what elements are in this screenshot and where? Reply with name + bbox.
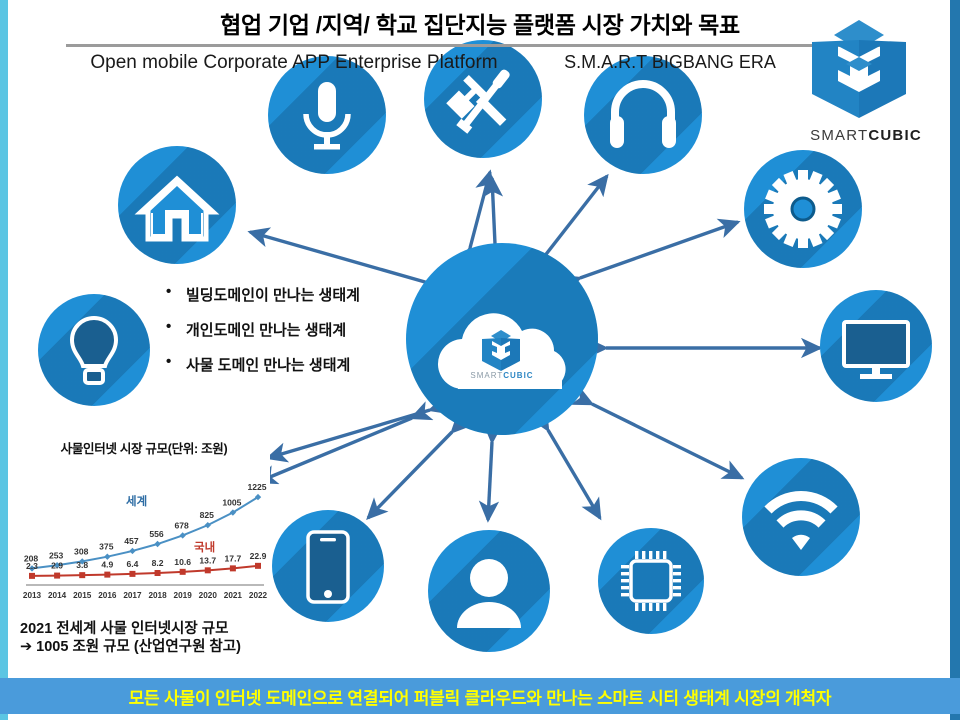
arrow-hub-tools [492, 178, 495, 244]
chart-note-line2: ➔ 1005 조원 규모 (산업연구원 참고) [20, 638, 300, 656]
chart-note: 2021 전세계 사물 인터넷시장 규모 ➔ 1005 조원 규모 (산업연구원… [20, 620, 300, 656]
arrow-hub-chip [548, 430, 600, 518]
right-edge-strip [950, 0, 960, 720]
headphones-icon [584, 56, 702, 174]
svg-text:2021: 2021 [224, 591, 243, 600]
smartphone-icon [272, 510, 384, 622]
arrow-hub-chart [258, 418, 412, 482]
svg-text:556: 556 [149, 529, 164, 539]
node-chip[interactable] [598, 528, 704, 634]
node-gear[interactable] [744, 150, 862, 268]
home-icon [118, 146, 236, 264]
svg-text:2014: 2014 [48, 591, 67, 600]
bottom-banner: 모든 사물이 인터넷 도메인으로 연결되어 퍼블릭 클라우드와 만나는 스마트 … [0, 678, 960, 714]
chart-annotation-world: 세계 [126, 494, 147, 508]
arrow-hub-gear [580, 222, 738, 278]
hub-label-bold: CUBIC [503, 371, 533, 380]
hub-label-light: SMART [470, 371, 503, 380]
list-item: 사물 도메인 만나는 생태계 [152, 354, 404, 375]
svg-text:3.8: 3.8 [76, 560, 88, 570]
subtitle-right: S.M.A.R.T BIGBANG ERA [520, 52, 820, 73]
svg-text:2.3: 2.3 [26, 561, 38, 571]
ecosystem-bullet-panel: 빌딩도메인이 만나는 생태계 개인도메인 만나는 생태계 사물 도메인 만나는 … [152, 278, 404, 406]
slide-canvas: 협업 기업 /지역/ 학교 집단지능 플랫폼 시장 가치와 목표 Open mo… [0, 0, 960, 720]
arrow-hub-home [250, 232, 432, 284]
arrow-hub-smartphone [368, 432, 452, 518]
svg-text:457: 457 [124, 536, 139, 546]
node-home[interactable] [118, 146, 236, 264]
bullet-list: 빌딩도메인이 만나는 생태계 개인도메인 만나는 생태계 사물 도메인 만나는 … [152, 284, 404, 375]
svg-text:1225: 1225 [247, 482, 266, 492]
hub-cloud-node[interactable]: SMARTCUBIC [406, 243, 598, 435]
svg-text:2022: 2022 [249, 591, 268, 600]
monitor-icon [820, 290, 932, 402]
brand-logo: SMARTCUBIC [800, 18, 932, 148]
svg-text:4.9: 4.9 [101, 560, 113, 570]
user-icon [428, 530, 550, 652]
arrow-hub-microphone [470, 172, 490, 248]
chart-title: 사물인터넷 시장 규모(단위: 조원) [18, 438, 270, 457]
cube-logo-icon [800, 18, 918, 118]
node-monitor[interactable] [820, 290, 932, 402]
chart-labels-world: 20825330837545755667882510051225 [24, 482, 267, 563]
chart-annotation-domestic: 국내 [194, 540, 215, 554]
svg-text:308: 308 [74, 546, 89, 556]
node-wifi[interactable] [742, 458, 860, 576]
svg-text:253: 253 [49, 550, 64, 560]
gear-icon [744, 150, 862, 268]
node-smartphone[interactable] [272, 510, 384, 622]
svg-text:1005: 1005 [222, 498, 241, 508]
chart-xaxis-ticks: 2013201420152016201720182019202020212022 [23, 591, 268, 600]
chip-icon [598, 528, 704, 634]
chart-plot: 20825330837545755667882510051225 2.32.93… [18, 459, 270, 611]
svg-text:8.2: 8.2 [152, 558, 164, 568]
iot-market-chart: 사물인터넷 시장 규모(단위: 조원) 20825330837545755667… [18, 438, 270, 614]
svg-text:2020: 2020 [199, 591, 218, 600]
svg-text:2.9: 2.9 [51, 561, 63, 571]
left-edge-strip [0, 0, 8, 720]
node-user[interactable] [428, 530, 550, 652]
svg-text:17.7: 17.7 [225, 553, 242, 563]
svg-text:2013: 2013 [23, 591, 42, 600]
svg-text:6.4: 6.4 [126, 559, 138, 569]
list-item: 빌딩도메인이 만나는 생태계 [152, 284, 404, 305]
chart-note-line1: 2021 전세계 사물 인터넷시장 규모 [20, 620, 300, 638]
svg-text:2017: 2017 [123, 591, 142, 600]
node-lightbulb[interactable] [38, 294, 150, 406]
node-headphones[interactable] [584, 56, 702, 174]
lightbulb-icon [38, 294, 150, 406]
svg-text:2018: 2018 [148, 591, 167, 600]
title-divider [66, 44, 894, 47]
svg-text:22.9: 22.9 [250, 551, 267, 561]
svg-text:13.7: 13.7 [199, 555, 216, 565]
hub-cube-logo-icon [478, 329, 524, 371]
svg-text:678: 678 [174, 520, 189, 530]
svg-text:2019: 2019 [174, 591, 193, 600]
brand-name-bold: CUBIC [868, 127, 922, 144]
brand-name-light: SMART [810, 127, 868, 144]
wifi-icon [742, 458, 860, 576]
arrow-hub-wifi [592, 404, 742, 478]
svg-text:2015: 2015 [73, 591, 92, 600]
brand-name: SMARTCUBIC [800, 127, 932, 144]
svg-text:10.6: 10.6 [174, 557, 191, 567]
list-item: 개인도메인 만나는 생태계 [152, 319, 404, 340]
svg-text:375: 375 [99, 542, 114, 552]
arrow-hub-user [488, 442, 492, 520]
banner-text: 모든 사물이 인터넷 도메인으로 연결되어 퍼블릭 클라우드와 만나는 스마트 … [129, 684, 832, 709]
svg-text:2016: 2016 [98, 591, 117, 600]
hub-label: SMARTCUBIC [406, 371, 598, 380]
subtitle-left: Open mobile Corporate APP Enterprise Pla… [64, 52, 524, 74]
svg-text:825: 825 [200, 510, 215, 520]
